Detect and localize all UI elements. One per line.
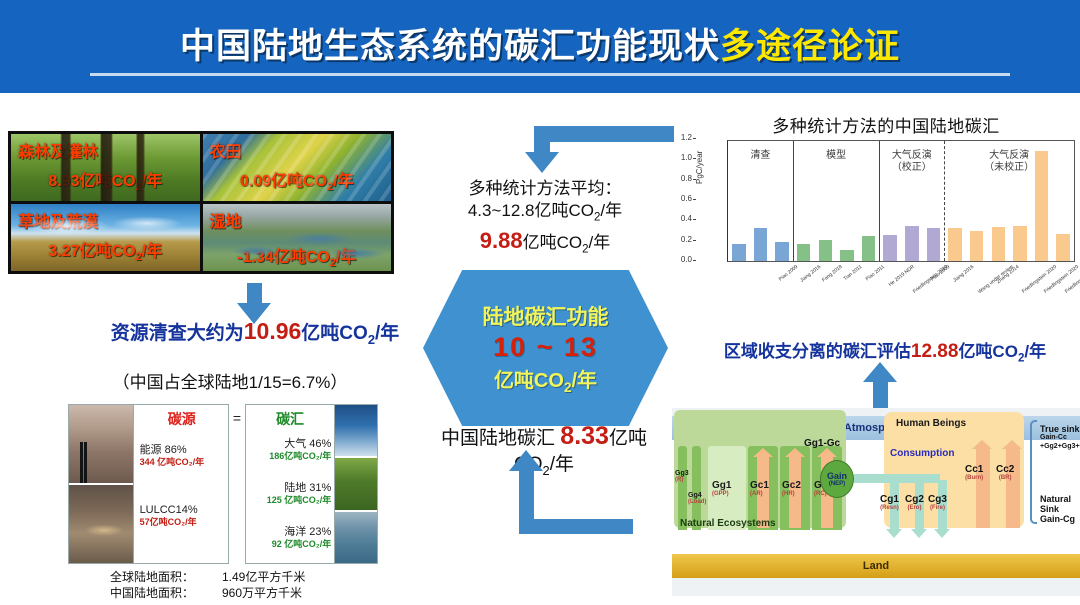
source-item-energy-value: 344 亿吨CO₂/年 xyxy=(140,458,224,467)
land-area-china-value: 960万平方千米 xyxy=(222,586,302,602)
diagram-label-cc2: Cc2(BR) xyxy=(996,464,1014,481)
chart-group-divider xyxy=(944,141,945,261)
diagram-true-sink-note: True sink Gain-Cc +Gg2+Gg3+Gg4 xyxy=(1040,424,1080,452)
chart-x-label: Jiang 2016 xyxy=(800,264,823,284)
sink-item-atmosphere-label: 大气 46% xyxy=(284,438,331,450)
statistical-average-block: 多种统计方法平均： 4.3~12.8亿吨CO2/年 9.88亿吨CO2/年 xyxy=(420,178,670,257)
chart-body: PgC/year 1.21.00.80.60.40.20.0 清查模型大气反演（… xyxy=(697,140,1075,300)
hexagon-line-1: 陆地碳汇功能 xyxy=(483,301,609,331)
chart-bar xyxy=(905,226,918,262)
chart-bar xyxy=(754,228,767,261)
source-item-lulcc-label: LULCC14% xyxy=(140,504,198,516)
diagram-true-sink-body: Gain-Cc +Gg2+Gg3+Gg4 xyxy=(1040,434,1080,452)
chart-group-label: 模型 xyxy=(826,150,846,162)
hexagon-unit: 亿吨CO2/年 xyxy=(494,364,597,395)
arrow-chart-to-average-horizontal xyxy=(534,126,674,142)
arrow-down-inventory-shaft xyxy=(247,283,262,305)
chart-bar xyxy=(948,228,961,262)
header-underline xyxy=(90,73,1010,76)
land-area-global-value: 1.49亿平方千米 xyxy=(222,570,305,586)
average-line-1: 多种统计方法平均： xyxy=(420,178,670,200)
diagram-label-gc1: Gc1(AR) xyxy=(750,480,769,497)
photo-smokestack xyxy=(69,405,133,483)
diagram-gain-label: Gain xyxy=(827,471,847,481)
chart-y-axis-label: PgC/year xyxy=(695,151,704,184)
chart-bar-slot xyxy=(771,141,793,261)
arrow-eco-to-region-head xyxy=(863,362,897,382)
diagram-label-cg1: Cg1(Resn) xyxy=(880,494,899,511)
chart-x-tick-labels: Piao 2009Jiang 2016Fang 2018Tian 2011Pia… xyxy=(727,262,1075,298)
land-area-global-key: 全球陆地面积： xyxy=(110,570,222,586)
chart-bar-slot xyxy=(858,141,880,261)
chart-y-tick: 0.4 xyxy=(681,214,692,223)
photo-grassland: 草地及荒漠 3.27亿吨CO2/年 xyxy=(11,204,200,271)
chart-bar xyxy=(840,250,853,261)
chart-y-tick: 1.2 xyxy=(681,133,692,142)
diagram-natural-sink-note: Natural Sink Gain-Cg xyxy=(1040,494,1080,524)
chart-bar-slot xyxy=(1052,141,1074,261)
average-line-3: 9.88亿吨CO2/年 xyxy=(420,227,670,257)
photo-ocean xyxy=(335,512,377,563)
chart-bar-slot xyxy=(728,141,750,261)
diagram-label-gg1-gc: Gg1-Gc xyxy=(804,438,840,449)
china-land-sink-line: 中国陆地碳汇 8.33亿吨 CO2/年 xyxy=(408,420,680,479)
carbon-source-header: 碳源 xyxy=(140,409,224,429)
land-area-row-china: 中国陆地面积： 960万平方千米 xyxy=(110,586,400,602)
chart-bar xyxy=(1056,234,1069,261)
slide-root: 中国陆地生态系统的碳汇功能现状多途径论证 森林及灌林 8.93亿吨CO2/年 农… xyxy=(0,0,1080,605)
chart-bar xyxy=(775,242,788,262)
land-area-china-key: 中国陆地面积： xyxy=(110,586,222,602)
sink-item-ocean-label: 海洋 23% xyxy=(284,526,331,538)
chart-x-label: He 2019 NDR xyxy=(888,264,916,288)
chart-y-tick: 0.2 xyxy=(681,235,692,244)
ecosystem-photo-grid: 森林及灌林 8.93亿吨CO2/年 农田 0.09亿吨CO2/年 草地及荒漠 3… xyxy=(8,131,394,274)
average-value: 9.88 xyxy=(480,228,523,253)
diagram-gain-sub: (NEP) xyxy=(829,481,845,487)
china-land-share-note: （中国占全球陆地1/15=6.7%） xyxy=(60,368,400,393)
inventory-estimate-line: 资源清查大约为10.96亿吨CO2/年 xyxy=(70,318,440,347)
photo-grassland-value: 3.27亿吨CO2/年 xyxy=(11,237,200,263)
photo-cropland-label: 农田 xyxy=(210,138,242,162)
chart-group-label: 大气反演（校正） xyxy=(892,150,932,173)
chart-bar xyxy=(927,228,940,261)
arrow-eco-to-region-shaft xyxy=(873,380,888,408)
chart-group-label: 清查 xyxy=(750,150,770,162)
equals-sign: = xyxy=(229,404,245,564)
land-area-note: 全球陆地面积： 1.49亿平方千米 中国陆地面积： 960万平方千米 xyxy=(110,570,400,602)
chart-bar-slot xyxy=(944,141,966,261)
average-line-2: 4.3~12.8亿吨CO2/年 xyxy=(420,200,670,225)
photo-cropland: 农田 0.09亿吨CO2/年 xyxy=(203,134,392,201)
carbon-source-sink-table: 碳源 能源 86% 344 亿吨CO₂/年 LULCC14% 57亿吨CO₂/年… xyxy=(68,404,378,564)
hexagon-range-value: 10 ~ 13 xyxy=(493,332,598,363)
photo-grassland-label: 草地及荒漠 xyxy=(18,208,98,232)
diagram-consumption-label: Consumption xyxy=(890,448,954,459)
sink-item-land-label: 陆地 31% xyxy=(284,482,331,494)
chart-group-label: 大气反演（未校正） xyxy=(984,150,1034,173)
diagram-sink-brace xyxy=(1030,420,1037,524)
diagram-natural-sink-body: Gain-Cg xyxy=(1040,514,1080,524)
diagram-label-gg3: Gg3(R) xyxy=(675,470,689,483)
carbon-source-column: 碳源 能源 86% 344 亿吨CO₂/年 LULCC14% 57亿吨CO₂/年 xyxy=(134,404,229,564)
diagram-arrow-cc2 xyxy=(1006,448,1020,528)
page-title: 中国陆地生态系统的碳汇功能现状多途径论证 xyxy=(180,29,900,64)
chart-plot-area: 清查模型大气反演（校正）大气反演（未校正） xyxy=(727,140,1075,262)
chart-bar xyxy=(1013,226,1026,261)
carbon-sink-column: 碳汇 大气 46% 186亿吨CO₂/年 陆地 31% 125 亿吨CO₂/年 … xyxy=(245,404,334,564)
title-white-part: 中国陆地生态系统的碳汇功能现状 xyxy=(180,27,720,66)
chart-bar-slot xyxy=(793,141,815,261)
chart-bar xyxy=(992,227,1005,261)
chart-y-tick: 0.0 xyxy=(681,255,692,264)
chart-bar xyxy=(883,235,896,261)
photo-landuse xyxy=(69,485,133,563)
carbon-sink-methods-chart: 多种统计方法的中国陆地碳汇 PgC/year 1.21.00.80.60.40.… xyxy=(697,112,1075,302)
chart-bar xyxy=(970,231,983,262)
photo-forest-value: 8.93亿吨CO2/年 xyxy=(11,167,200,193)
photo-wetland: 湿地 -1.34亿吨CO2/年 xyxy=(203,204,392,271)
chart-x-label: Piao 2009 xyxy=(777,264,798,283)
source-item-lulcc: LULCC14% 57亿吨CO₂/年 xyxy=(140,501,224,527)
slide-header: 中国陆地生态系统的碳汇功能现状多途径论证 xyxy=(0,0,1080,93)
carbon-budget-diagram: Atmosphere Gg3(R) Gg4(Load) Gg1(GPP) Gc1… xyxy=(672,408,1080,596)
diagram-label-cc1: Cc1(Burn) xyxy=(965,464,983,481)
diagram-label-cg2: Cg2(Ero) xyxy=(905,494,924,511)
arrow-eco-to-china-horizontal xyxy=(519,519,633,534)
sink-item-atmosphere-value: 186亿吨CO₂/年 xyxy=(249,452,331,461)
regional-evaluation-line: 区域收支分离的碳汇评估12.88亿吨CO2/年 xyxy=(690,337,1080,364)
diagram-label-cg3: Cg3(Fire) xyxy=(928,494,947,511)
diagram-label-gc2: Gc2(HR) xyxy=(782,480,801,497)
chart-bar xyxy=(862,236,875,262)
sink-photo-stack xyxy=(334,404,378,564)
diagram-arrow-cc1 xyxy=(976,448,990,528)
photo-cropland-value: 0.09亿吨CO2/年 xyxy=(203,167,392,193)
photo-wetland-value: -1.34亿吨CO2/年 xyxy=(203,243,392,269)
sink-item-land-value: 125 亿吨CO₂/年 xyxy=(249,496,331,505)
photo-forest: 森林及灌林 8.93亿吨CO2/年 xyxy=(11,134,200,201)
regional-evaluation-value: 12.88 xyxy=(911,341,959,362)
chart-bar xyxy=(797,244,810,262)
photo-wetland-label: 湿地 xyxy=(210,208,242,232)
source-item-energy: 能源 86% 344 亿吨CO₂/年 xyxy=(140,441,224,467)
chart-y-tick: 1.0 xyxy=(681,153,692,162)
inventory-value: 10.96 xyxy=(244,318,302,344)
sink-item-ocean: 海洋 23% 92 亿吨CO₂/年 xyxy=(249,523,331,549)
arrow-eco-to-china-head xyxy=(509,450,543,471)
title-yellow-part: 多途径论证 xyxy=(720,27,900,66)
diagram-natural-sink-title: Natural Sink xyxy=(1040,494,1080,514)
arrow-chart-to-average-head xyxy=(525,152,559,173)
source-item-lulcc-value: 57亿吨CO₂/年 xyxy=(140,518,224,527)
carbon-sink-header: 碳汇 xyxy=(249,409,331,429)
source-photo-stack xyxy=(68,404,134,564)
diagram-label-gg1: Gg1(GPP) xyxy=(712,480,731,497)
diagram-true-sink-title: True sink xyxy=(1040,424,1080,434)
chart-x-label: Piao 2011 xyxy=(864,264,885,282)
chart-y-ticks: 1.21.00.80.60.40.20.0 xyxy=(670,133,696,269)
chart-title: 多种统计方法的中国陆地碳汇 xyxy=(697,112,1075,137)
chart-bar xyxy=(732,244,745,261)
chart-y-tick: 0.8 xyxy=(681,174,692,183)
chart-bar xyxy=(819,240,832,262)
arrow-eco-to-china-shaft xyxy=(519,470,534,534)
chart-x-label: Fang 2018 xyxy=(821,264,844,283)
source-item-energy-label: 能源 86% xyxy=(140,444,187,456)
sink-item-atmosphere: 大气 46% 186亿吨CO₂/年 xyxy=(249,435,331,461)
chart-bar xyxy=(1035,151,1048,261)
sink-item-land: 陆地 31% 125 亿吨CO₂/年 xyxy=(249,479,331,505)
diagram-label-gg4: Gg4(Load) xyxy=(688,492,706,505)
diagram-land-band: Land xyxy=(672,554,1080,578)
sink-item-ocean-value: 92 亿吨CO₂/年 xyxy=(249,540,331,549)
diagram-gain-node: Gain (NEP) xyxy=(820,460,854,498)
chart-x-label: Jiang 2016 xyxy=(952,264,975,284)
chart-x-label: Tian 2011 xyxy=(843,264,864,282)
photo-forest-label: 森林及灌林 xyxy=(18,138,98,162)
china-land-sink-value: 8.33 xyxy=(560,422,609,450)
chart-group-divider xyxy=(879,141,880,261)
chart-y-tick: 0.6 xyxy=(681,194,692,203)
diagram-human-beings-label: Human Beings xyxy=(896,418,966,429)
photo-forest-sink xyxy=(335,458,377,509)
land-carbon-sink-hexagon: 陆地碳汇功能 10 ~ 13 亿吨CO2/年 xyxy=(423,270,668,426)
chart-group-divider xyxy=(793,141,794,261)
land-area-row-global: 全球陆地面积： 1.49亿平方千米 xyxy=(110,570,400,586)
photo-sky xyxy=(335,405,377,456)
